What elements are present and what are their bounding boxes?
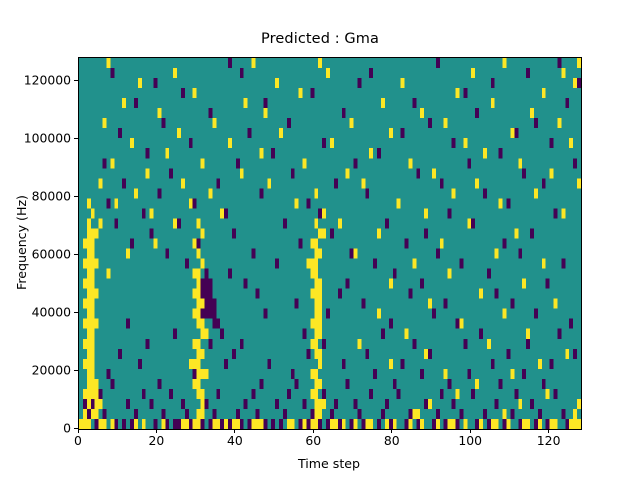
x-axis-tick-mark (391, 429, 392, 433)
x-axis-tick-label: 100 (440, 433, 500, 448)
y-axis-tick-label: 120000 (0, 73, 71, 88)
y-axis-tick-mark (74, 138, 78, 139)
page-title: Predicted : Gma (0, 31, 640, 47)
x-axis-tick-mark (78, 429, 79, 433)
x-axis-tick-mark (548, 429, 549, 433)
x-axis-tick-label: 20 (126, 433, 186, 448)
y-axis-tick-mark (74, 370, 78, 371)
x-axis-tick-mark (470, 429, 471, 433)
matplotlib-figure: Predicted : Gma Frequency (Hz) Time step… (0, 0, 640, 480)
x-axis-tick-label: 80 (362, 433, 422, 448)
x-axis-tick-mark (156, 429, 157, 433)
y-axis-tick-label: 80000 (0, 189, 71, 204)
x-axis-tick-label: 60 (283, 433, 343, 448)
x-axis-tick-mark (234, 429, 235, 433)
y-axis-tick-mark (74, 80, 78, 81)
x-axis-label: Time step (78, 456, 580, 471)
y-axis-tick-label: 60000 (0, 247, 71, 262)
x-axis-tick-label: 120 (519, 433, 579, 448)
y-axis-tick-label: 20000 (0, 363, 71, 378)
x-axis-tick-label: 0 (48, 433, 108, 448)
heatmap-plot-area (78, 57, 582, 430)
y-axis-tick-mark (74, 254, 78, 255)
heatmap-image (79, 58, 581, 429)
x-axis-tick-mark (313, 429, 314, 433)
y-axis-tick-label: 100000 (0, 131, 71, 146)
y-axis-tick-mark (74, 312, 78, 313)
y-axis-tick-label: 40000 (0, 305, 71, 320)
y-axis-tick-mark (74, 196, 78, 197)
x-axis-tick-label: 40 (205, 433, 265, 448)
